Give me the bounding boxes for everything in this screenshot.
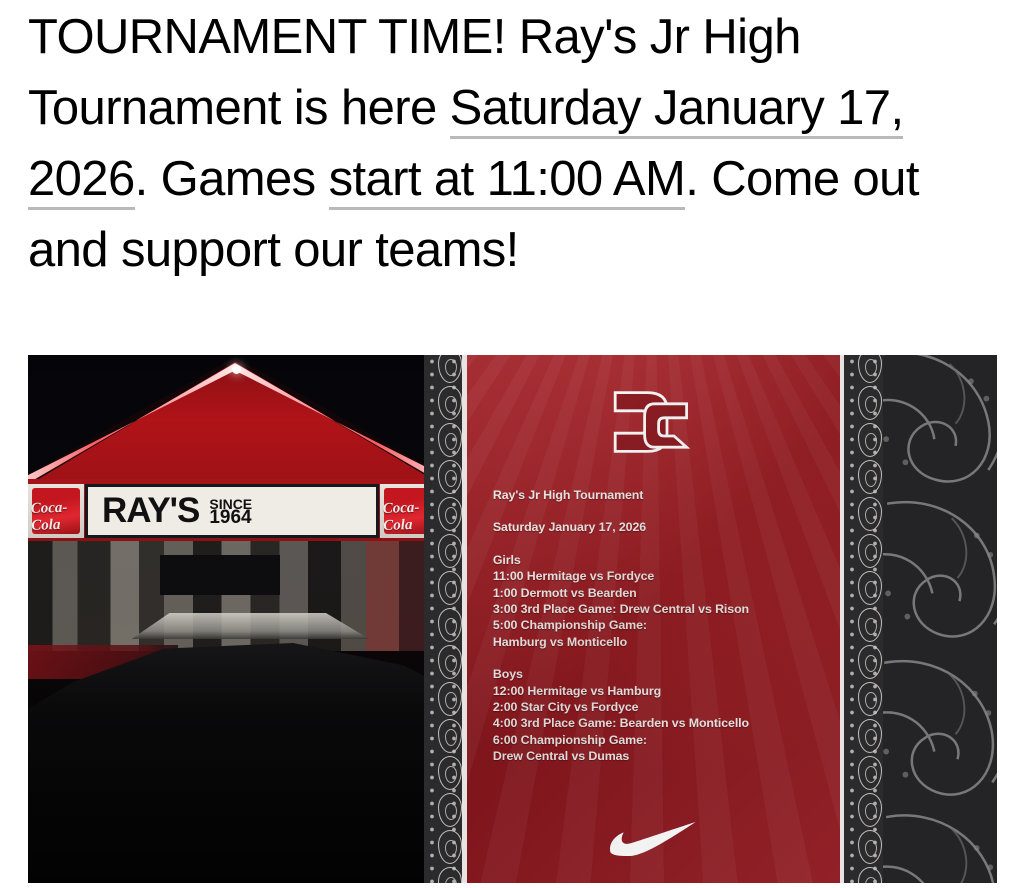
diamond-motif bbox=[858, 867, 882, 883]
poster-title: Ray's Jr High Tournament bbox=[493, 487, 830, 503]
paisley-pattern bbox=[883, 355, 997, 883]
girls-game-3: 5:00 Championship Game: bbox=[493, 617, 830, 633]
diamond-motif bbox=[438, 497, 462, 531]
diamond-motif bbox=[438, 355, 462, 383]
diamond-motif bbox=[858, 608, 882, 642]
diamond-motif bbox=[858, 355, 882, 383]
nike-swoosh-icon bbox=[605, 821, 701, 857]
diamond-motif bbox=[438, 682, 462, 716]
diamond-motif bbox=[438, 867, 462, 883]
diamond-motif bbox=[438, 756, 462, 790]
time-link[interactable]: start at 11:00 AM bbox=[329, 152, 686, 210]
boys-heading: Boys bbox=[493, 666, 830, 682]
diamond-motif bbox=[438, 719, 462, 753]
girls-game-4: Hamburg vs Monticello bbox=[493, 634, 830, 650]
diamond-motif bbox=[858, 756, 882, 790]
diamond-motif bbox=[858, 645, 882, 679]
girls-game-0: 11:00 Hermitage vs Fordyce bbox=[493, 568, 830, 584]
rays-storefront-photo: Coca-Cola RAY'S SINCE 1964 Coca-Cola bbox=[28, 355, 424, 883]
ornament-strip-right bbox=[844, 355, 882, 883]
post-headline: TOURNAMENT TIME! Ray's Jr High Tournamen… bbox=[28, 2, 988, 286]
ornament-strip-left bbox=[424, 355, 462, 883]
diamond-motif bbox=[858, 793, 882, 827]
spacer bbox=[493, 536, 830, 552]
girls-game-2: 3:00 3rd Place Game: Drew Central vs Ris… bbox=[493, 601, 830, 617]
diamond-motif bbox=[438, 645, 462, 679]
diamond-motif bbox=[858, 534, 882, 568]
boys-game-2: 4:00 3rd Place Game: Bearden vs Monticel… bbox=[493, 715, 830, 731]
diamond-motif-column bbox=[437, 355, 462, 883]
boys-game-0: 12:00 Hermitage vs Hamburg bbox=[493, 683, 830, 699]
diamond-motif bbox=[858, 460, 882, 494]
diamond-motif bbox=[438, 571, 462, 605]
diamond-motif bbox=[438, 793, 462, 827]
diamond-motif bbox=[858, 386, 882, 420]
paisley-bandana-panel bbox=[883, 355, 997, 883]
diamond-motif bbox=[438, 830, 462, 864]
boys-game-1: 2:00 Star City vs Fordyce bbox=[493, 699, 830, 715]
diamond-motif bbox=[858, 497, 882, 531]
diamond-motif bbox=[438, 423, 462, 457]
boys-game-3: 6:00 Championship Game: bbox=[493, 732, 830, 748]
diamond-motif bbox=[438, 386, 462, 420]
poster-date: Saturday January 17, 2026 bbox=[493, 519, 830, 535]
girls-game-1: 1:00 Dermott vs Bearden bbox=[493, 585, 830, 601]
tournament-flyer-image[interactable]: Coca-Cola RAY'S SINCE 1964 Coca-Cola bbox=[28, 355, 997, 883]
spacer bbox=[493, 650, 830, 666]
schedule-text-block: Ray's Jr High Tournament Saturday Januar… bbox=[493, 487, 830, 765]
diamond-motif bbox=[858, 571, 882, 605]
diamond-motif bbox=[438, 534, 462, 568]
tournament-schedule-panel: Ray's Jr High Tournament Saturday Januar… bbox=[467, 355, 840, 883]
girls-heading: Girls bbox=[493, 552, 830, 568]
dc-monogram-logo bbox=[611, 386, 695, 458]
diamond-motif bbox=[858, 830, 882, 864]
diamond-motif bbox=[438, 460, 462, 494]
diamond-motif bbox=[858, 682, 882, 716]
spacer bbox=[493, 503, 830, 519]
photo-vignette bbox=[28, 355, 424, 883]
boys-game-4: Drew Central vs Dumas bbox=[493, 748, 830, 764]
diamond-motif bbox=[858, 719, 882, 753]
diamond-motif bbox=[438, 608, 462, 642]
diamond-motif-column bbox=[857, 355, 882, 883]
diamond-motif bbox=[858, 423, 882, 457]
headline-segment-2: . Games bbox=[135, 152, 329, 206]
